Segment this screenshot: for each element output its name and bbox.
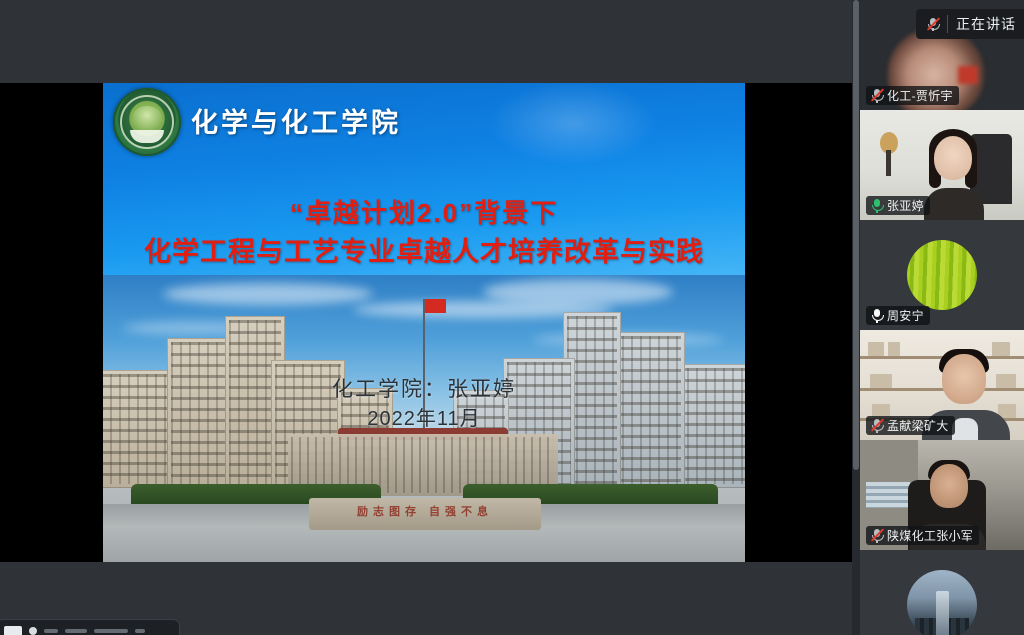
participant-tile[interactable]: 陕煤化工张小军 (860, 440, 1024, 550)
chat-icon[interactable] (94, 629, 128, 633)
monument-motto: 励志图存 自强不息 (309, 503, 541, 519)
participant-nameplate: 张亚婷 (866, 196, 930, 215)
participant-nameplate: 陕煤化工张小军 (866, 526, 979, 545)
participant-nameplate: 周安宁 (866, 306, 930, 325)
mic-muted-icon (870, 528, 883, 543)
participant-name: 孟献梁矿大 (887, 417, 949, 434)
avatar (907, 240, 977, 310)
participant-tile[interactable]: 伊春海-西安交通大学 (860, 550, 1024, 635)
filmstrip-scrollbar[interactable] (852, 0, 860, 635)
meeting-window: 化学与化工学院 “卓越计划2.0”背景下 化学工程与工艺专业卓越人才培养改革与实… (0, 0, 1024, 635)
participants-icon[interactable] (65, 629, 87, 633)
mic-unmuted-icon (870, 308, 883, 323)
slide-title-line1: “卓越计划2.0”背景下 (103, 195, 745, 231)
mic-toggle-icon[interactable] (29, 627, 37, 635)
more-icon[interactable] (135, 629, 145, 633)
campus-monument: 励志图存 自强不息 (309, 498, 541, 530)
university-seal-icon (113, 88, 181, 156)
participant-filmstrip[interactable]: 正在讲话 化工-贾忻宇 (860, 0, 1024, 635)
participant-nameplate: 孟献梁矿大 (866, 416, 955, 435)
speaking-indicator-tooltip: 正在讲话 (916, 9, 1024, 39)
flag-icon (425, 299, 446, 313)
mic-unmuted-icon (870, 198, 883, 213)
scrollbar-thumb[interactable] (853, 0, 859, 470)
participant-tile[interactable]: 孟献梁矿大 (860, 330, 1024, 440)
mic-muted-icon (926, 17, 939, 32)
presentation-slide: 化学与化工学院 “卓越计划2.0”背景下 化学工程与工艺专业卓越人才培养改革与实… (103, 83, 745, 562)
presentation-date: 2022年11月 (103, 405, 745, 434)
participant-nameplate: 化工-贾忻宇 (866, 86, 959, 105)
slide-title: “卓越计划2.0”背景下 化学工程与工艺专业卓越人才培养改革与实践 (103, 195, 745, 273)
shared-screen-stage[interactable]: 化学与化工学院 “卓越计划2.0”背景下 化学工程与工艺专业卓越人才培养改革与实… (0, 0, 852, 635)
presenter-name: 化工学院：张亚婷 (103, 375, 745, 405)
video-toggle-icon[interactable] (4, 626, 22, 635)
avatar (907, 570, 977, 635)
participant-name: 化工-贾忻宇 (887, 87, 953, 104)
share-icon[interactable] (44, 629, 58, 633)
mic-muted-icon (870, 88, 883, 103)
video-feed-off (860, 550, 1024, 635)
meeting-control-bar[interactable] (0, 619, 180, 635)
slide-title-line2: 化学工程与工艺专业卓越人才培养改革与实践 (103, 231, 745, 273)
campus-photo: 励志图存 自强不息 化工学院：张亚婷 2022年11月 (103, 275, 745, 562)
participant-name: 张亚婷 (887, 197, 924, 214)
participant-name: 陕煤化工张小军 (887, 527, 973, 544)
speaking-indicator-label: 正在讲话 (956, 14, 1016, 34)
mic-muted-icon (870, 418, 883, 433)
slide-header-text: 化学与化工学院 (191, 101, 401, 140)
participant-tile[interactable]: 周安宁 (860, 220, 1024, 330)
participant-name: 周安宁 (887, 307, 924, 324)
participant-tile[interactable]: 张亚婷 (860, 110, 1024, 220)
slide-presenter-block: 化工学院：张亚婷 2022年11月 (103, 375, 745, 434)
